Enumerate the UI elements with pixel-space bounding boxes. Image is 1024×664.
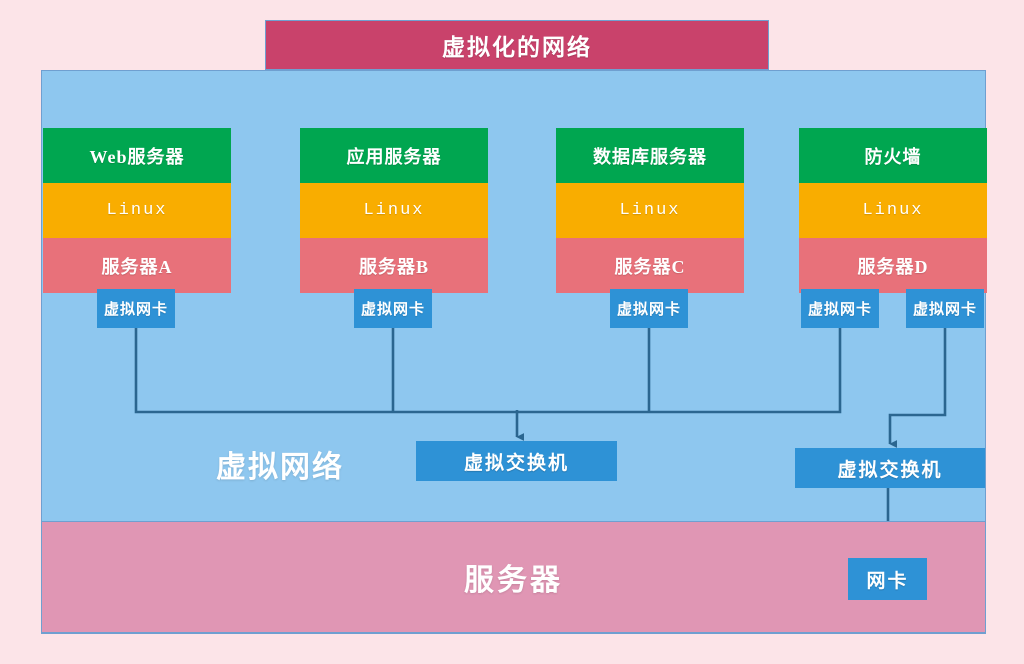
server-stack-web: Web服务器 Linux 服务器A [43,128,229,287]
stack-host-layer: 服务器D [799,238,987,293]
server-stack-application: 应用服务器 Linux 服务器B [300,128,486,287]
virtual-nic-database[interactable]: 虚拟网卡 [610,289,688,328]
stack-role-layer: Web服务器 [43,128,231,183]
stack-role-layer: 数据库服务器 [556,128,744,183]
diagram-title-banner: 虚拟化的网络 [265,20,769,70]
virtual-network-label: 虚拟网络 [170,441,390,487]
virtual-nic-web[interactable]: 虚拟网卡 [97,289,175,328]
virtual-nic-application[interactable]: 虚拟网卡 [354,289,432,328]
virtual-switch-2[interactable]: 虚拟交换机 [795,448,985,488]
server-stack-firewall: 防火墙 Linux 服务器D [799,128,985,287]
stack-role-layer: 应用服务器 [300,128,488,183]
virtual-switch-1[interactable]: 虚拟交换机 [416,441,617,481]
server-stack-database: 数据库服务器 Linux 服务器C [556,128,742,287]
stack-os-layer: Linux [556,183,744,238]
physical-server-bar: 服务器 [41,521,986,633]
stack-host-layer: 服务器C [556,238,744,293]
physical-nic[interactable]: 网卡 [848,558,927,600]
diagram-title-text: 虚拟化的网络 [442,28,592,62]
virtual-nic-firewall-outside[interactable]: 虚拟网卡 [906,289,984,328]
virtual-nic-firewall-inside[interactable]: 虚拟网卡 [801,289,879,328]
diagram-canvas: 虚拟化的网络 虚拟网络 Web服务器 Linux 服务器A 应用服务器 Linu… [0,0,1024,664]
stack-os-layer: Linux [43,183,231,238]
stack-os-layer: Linux [799,183,987,238]
physical-server-label: 服务器 [464,555,563,599]
stack-host-layer: 服务器A [43,238,231,293]
stack-role-layer: 防火墙 [799,128,987,183]
stack-os-layer: Linux [300,183,488,238]
stack-host-layer: 服务器B [300,238,488,293]
